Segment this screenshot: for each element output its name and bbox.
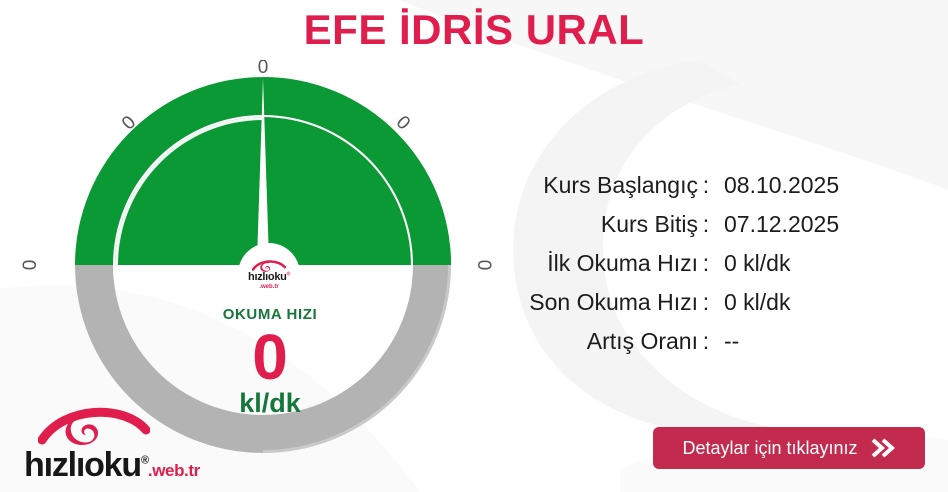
badge-wordmark: hızlıoku®	[248, 272, 290, 283]
gauge-tick-label-0: 0	[258, 60, 269, 78]
page-title: EFE İDRİS URAL	[0, 6, 948, 54]
badge-registered-mark: ®	[287, 271, 290, 277]
brand-wordmark: hızlıoku®.web.tr	[24, 446, 200, 485]
brand-word-inner: hızlıoku	[24, 446, 141, 484]
info-colon: :	[698, 211, 714, 238]
brand-word-text: hızlıoku®	[24, 446, 148, 484]
double-chevron-right-icon	[870, 437, 896, 459]
info-value: 07.12.2025	[714, 211, 839, 238]
info-label: Kurs Bitiş	[470, 211, 698, 238]
info-colon: :	[698, 250, 714, 277]
info-label: İlk Okuma Hızı	[470, 250, 698, 277]
info-colon: :	[698, 172, 714, 199]
brand-registered-mark: ®	[141, 455, 148, 467]
gauge-readout: OKUMA HIZI 0 kl/dk	[139, 306, 401, 417]
table-row: Kurs Bitiş : 07.12.2025	[470, 211, 890, 250]
table-row: Kurs Başlangıç : 08.10.2025	[470, 172, 890, 211]
details-button[interactable]: Detaylar için tıklayınız	[653, 427, 925, 469]
eye-spiral-icon	[38, 402, 150, 448]
course-info-table: Kurs Başlangıç : 08.10.2025 Kurs Bitiş :…	[470, 172, 890, 367]
infographic-card: EFE İDRİS URAL 0 0 0 0 0	[0, 0, 948, 492]
brand-tld: .web.tr	[148, 461, 200, 480]
badge-tld: .web.tr	[259, 284, 278, 290]
table-row: Artış Oranı : --	[470, 328, 890, 367]
gauge-center-badge: hızlıoku® .web.tr	[238, 243, 300, 305]
info-colon: :	[698, 289, 714, 316]
gauge-tick-label-3: 0	[20, 260, 41, 271]
info-label: Artış Oranı	[470, 328, 698, 355]
table-row: İlk Okuma Hızı : 0 kl/dk	[470, 250, 890, 289]
details-button-label: Detaylar için tıklayınız	[682, 438, 857, 459]
gauge-readout-value: 0	[139, 327, 401, 388]
table-row: Son Okuma Hızı : 0 kl/dk	[470, 289, 890, 328]
info-colon: :	[698, 328, 714, 355]
info-value: --	[714, 328, 739, 355]
info-label: Kurs Başlangıç	[470, 172, 698, 199]
info-value: 0 kl/dk	[714, 250, 790, 277]
brand-logo: hızlıoku®.web.tr	[24, 402, 184, 478]
info-value: 0 kl/dk	[714, 289, 790, 316]
info-value: 08.10.2025	[714, 172, 839, 199]
badge-word-text: hızlıoku	[248, 271, 287, 283]
gauge-tick-label-2: 0	[392, 112, 414, 134]
info-label: Son Okuma Hızı	[470, 289, 698, 316]
